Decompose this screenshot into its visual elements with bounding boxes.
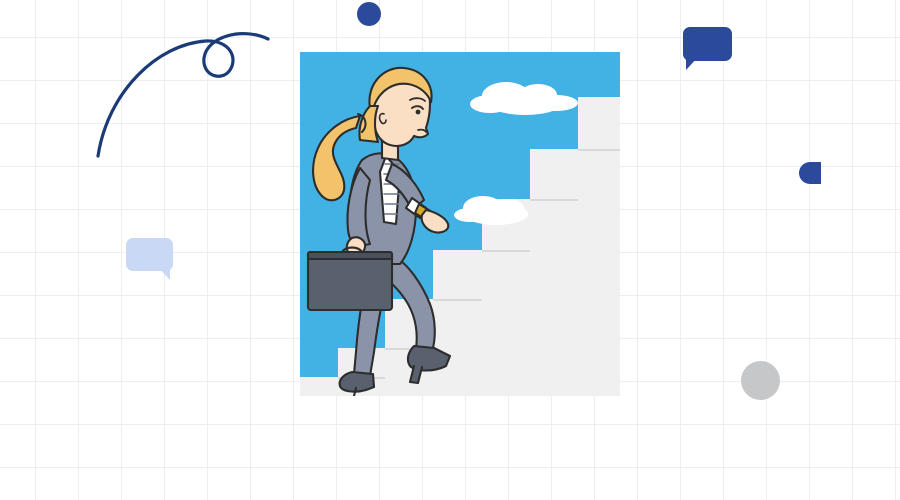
half-circle-right-icon (799, 162, 821, 184)
speech-bubble-dark-icon (683, 27, 732, 61)
slide-canvas: РЕГИОНАЛЬНЫЙ КОНКУРС ПЕДАГОГИЧЕСКОГО МАС… (0, 0, 900, 500)
gray-circle-icon (741, 361, 780, 400)
illustration-panel (300, 52, 620, 396)
title-bar: РЕГИОНАЛЬНЫЙ КОНКУРС ПЕДАГОГИЧЕСКОГО МАС… (0, 418, 900, 500)
briefcase (308, 248, 392, 311)
businesswoman-climbing-stairs-graphic (300, 52, 620, 396)
dot-top-icon (357, 2, 381, 26)
swoosh-line-icon (78, 0, 318, 166)
speech-bubble-light-icon (126, 238, 173, 271)
